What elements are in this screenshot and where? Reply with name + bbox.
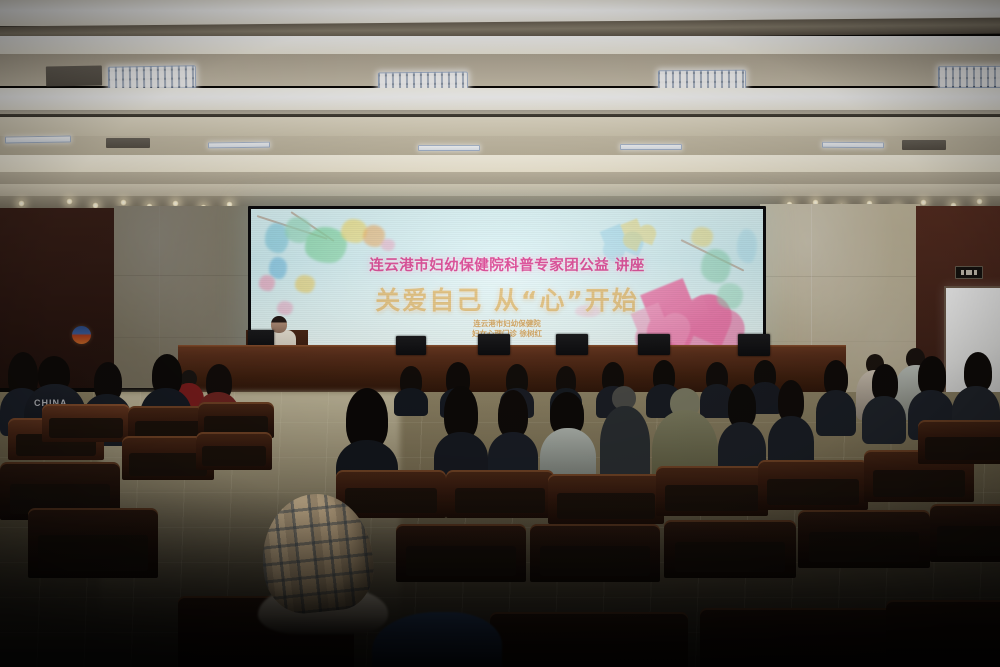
- stage-monitor: [556, 334, 588, 355]
- chair-foreground[interactable]: [886, 600, 1000, 667]
- slim-ceiling-light-icon: [208, 142, 270, 149]
- chair[interactable]: [446, 470, 554, 518]
- chair-seat: [809, 532, 920, 562]
- chair[interactable]: [396, 524, 526, 582]
- screen-title: 关爱自己 从“心”开始: [251, 281, 763, 317]
- chair-seat: [925, 437, 1000, 460]
- chair-foreground[interactable]: [700, 608, 896, 667]
- chair-back: [886, 600, 1000, 667]
- stage-monitor: [396, 336, 426, 355]
- chair[interactable]: [196, 432, 272, 470]
- person-torso: [816, 390, 856, 436]
- chair[interactable]: [798, 510, 930, 568]
- chair-seat: [345, 488, 437, 513]
- auditorium-photo: 连云港市妇幼保健院科普专家团公益 讲座 关爱自己 从“心”开始 连云港市妇幼保健…: [0, 0, 1000, 667]
- chair-seat: [767, 479, 859, 505]
- chair-seat: [406, 546, 515, 576]
- person-hair: [498, 390, 528, 438]
- decor-petal: [381, 239, 395, 251]
- screen-subtitle: 连云港市妇幼保健院科普专家团公益 讲座: [251, 254, 763, 275]
- chair-seat: [49, 418, 123, 438]
- chair-seat: [675, 542, 786, 572]
- chair[interactable]: [548, 474, 664, 524]
- decor-heart: [620, 218, 643, 241]
- audience-person: [862, 364, 906, 440]
- spot-light-icon: [976, 198, 983, 205]
- ceiling-vent-icon: [46, 66, 102, 87]
- chair[interactable]: [42, 404, 130, 442]
- chair[interactable]: [758, 460, 868, 510]
- chair-seat: [873, 470, 965, 497]
- ceiling-cove-strip-2: [0, 36, 1000, 56]
- audience-person: [816, 360, 856, 432]
- chair-seat: [540, 546, 649, 576]
- spot-light-icon: [920, 199, 927, 206]
- chair[interactable]: [28, 508, 158, 578]
- audience-person: [600, 386, 650, 482]
- chair[interactable]: [918, 420, 1000, 464]
- chair-back: [490, 612, 688, 667]
- sign-glyph: [966, 270, 972, 275]
- person-torso: [394, 388, 428, 416]
- stage-monitor: [478, 334, 510, 355]
- stage-monitor: [738, 334, 770, 356]
- audience-person: [768, 380, 814, 468]
- recessed-grille-light-icon: [108, 65, 196, 90]
- chair[interactable]: [664, 520, 796, 578]
- audience-person: [394, 366, 428, 414]
- chair[interactable]: [656, 466, 768, 516]
- decor-leaf: [691, 227, 713, 247]
- slim-ceiling-light-icon: [822, 142, 884, 148]
- person-torso: [862, 396, 906, 444]
- chair-seat: [557, 493, 654, 519]
- ceiling-vent-icon: [106, 138, 150, 148]
- spot-light-icon: [66, 198, 73, 205]
- chair-seat: [455, 488, 546, 513]
- chair-seat: [665, 485, 759, 511]
- chair-seat: [937, 526, 1000, 556]
- chair-foreground[interactable]: [490, 612, 688, 667]
- chair-seat: [38, 535, 147, 571]
- screen-credit-line-1: 连云港市妇幼保健院: [251, 319, 763, 329]
- slim-ceiling-light-icon: [418, 145, 480, 151]
- sign-glyph: [961, 270, 964, 275]
- recessed-grille-light-icon: [938, 66, 1000, 88]
- slim-ceiling-light-icon: [620, 144, 682, 150]
- audience-person: [488, 390, 538, 482]
- spot-light-icon: [18, 200, 25, 207]
- spot-light-icon: [120, 199, 127, 206]
- chair-seat: [202, 446, 266, 466]
- slim-ceiling-light-icon: [5, 135, 71, 143]
- chair[interactable]: [530, 524, 660, 582]
- ceiling: [0, 0, 1000, 212]
- ceiling-vent-icon: [902, 140, 946, 150]
- wall-emblem-icon: [72, 326, 91, 344]
- sign-glyph: [974, 270, 977, 275]
- person-torso: [600, 406, 650, 484]
- chair-back: [700, 608, 896, 667]
- chair[interactable]: [930, 504, 1000, 562]
- wall-sign-plaque: [955, 266, 983, 279]
- stage-monitor: [638, 334, 670, 355]
